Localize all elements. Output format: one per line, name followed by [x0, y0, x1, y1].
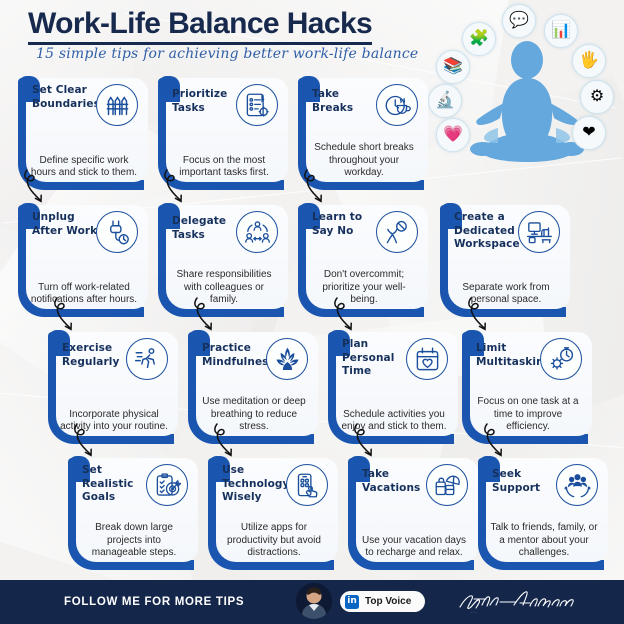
card-title: Delegate Tasks — [172, 215, 244, 242]
card-body: Share responsibilities with colleagues o… — [170, 269, 278, 307]
gear-stopwatch-icon — [540, 338, 582, 380]
puzzle-pieces-icon: 🧩 — [462, 22, 496, 56]
card-title: Limit Multitasking — [476, 342, 548, 369]
tip-card-12[interactable]: Set Realistic Goals Break down large pro… — [68, 458, 194, 570]
luggage-umbrella-icon — [426, 464, 468, 506]
clipboard-target-icon — [146, 464, 188, 506]
card-title: Learn to Say No — [312, 211, 384, 238]
checklist-gear-icon — [236, 84, 278, 126]
tip-card-7[interactable]: Create a Dedicated Workspace Separate wo… — [440, 205, 566, 317]
tip-card-15[interactable]: Seek Support Talk to friends, family, or… — [478, 458, 604, 570]
avatar — [296, 583, 332, 619]
card-body: Use meditation or deep breathing to redu… — [200, 396, 308, 434]
tip-card-6[interactable]: Learn to Say No Don't overcommit; priori… — [298, 205, 424, 317]
card-title: Unplug After Work — [32, 211, 104, 238]
smartphone-tap-icon — [286, 464, 328, 506]
card-body: Utilize apps for productivity but avoid … — [220, 522, 328, 560]
tip-card-13[interactable]: Use Technology Wisely Utilize apps for p… — [208, 458, 334, 570]
linkedin-top-voice-badge[interactable]: in Top Voice — [340, 591, 425, 612]
tip-card-4[interactable]: Unplug After Work Turn off work-related … — [18, 205, 144, 317]
card-body: Focus on the most important tasks first. — [170, 155, 278, 180]
card-body: Focus on one task at a time to improve e… — [474, 396, 582, 434]
signature-subtitle: ····· — [470, 611, 477, 615]
chat-bubbles-icon: 💬 — [502, 4, 536, 38]
footer-bar: FOLLOW ME FOR MORE TIPS in Top Voice — [0, 580, 624, 624]
science-flask-icon: 🔬 — [428, 84, 462, 118]
helping-hand-icon: 🖐 — [572, 44, 606, 78]
running-person-icon — [126, 338, 168, 380]
card-title: Set Clear Boundaries — [32, 84, 104, 111]
card-body: Turn off work-related notifications afte… — [30, 282, 138, 307]
unplugged-plug-icon — [96, 211, 138, 253]
card-body: Use your vacation days to recharge and r… — [360, 535, 468, 560]
heart-in-hands-icon: 💗 — [436, 118, 470, 152]
team-delegation-icon — [236, 211, 278, 253]
infographic-canvas: Work-Life Balance Hacks 15 simple tips f… — [0, 0, 624, 624]
fence-icon — [96, 84, 138, 126]
card-body: Schedule activities you enjoy and stick … — [340, 409, 448, 434]
tip-card-3[interactable]: Take Breaks Schedule short breaks throug… — [298, 78, 424, 190]
linkedin-icon: in — [345, 595, 359, 609]
card-body: Schedule short breaks throughout your wo… — [310, 142, 418, 180]
tip-card-10[interactable]: Plan Personal Time Schedule activities y… — [328, 332, 454, 444]
card-body: Define specific work hours and stick to … — [30, 155, 138, 180]
desk-computer-icon — [518, 211, 560, 253]
card-body: Break down large projects into manageabl… — [80, 522, 188, 560]
tip-card-2[interactable]: Prioritize Tasks Focus on the most impor… — [158, 78, 284, 190]
page-subtitle: 15 simple tips for achieving better work… — [36, 46, 418, 62]
tip-card-14[interactable]: Take Vacations Use your vacation days to… — [348, 458, 474, 570]
card-title: Prioritize Tasks — [172, 88, 244, 115]
hearts-icon: ❤ — [572, 116, 606, 150]
badge-label: Top Voice — [365, 596, 411, 607]
card-body: Talk to friends, family, or a mentor abo… — [490, 522, 598, 560]
meditation-lotus-icon — [266, 338, 308, 380]
clock-coffee-icon — [376, 84, 418, 126]
card-title: Practice Mindfulness — [202, 342, 274, 369]
card-title: Exercise Regularly — [62, 342, 134, 369]
page-title: Work-Life Balance Hacks — [28, 8, 372, 45]
no-entry-hands-icon — [376, 211, 418, 253]
meditating-person-illustration: 📚 🔬 💗 🧩 💬 📊 🖐 ⚙ ❤ — [434, 0, 620, 180]
card-title: Take Vacations — [362, 468, 434, 495]
card-body: Separate work from personal space. — [452, 282, 560, 307]
tip-card-9[interactable]: Practice Mindfulness Use meditation or d… — [188, 332, 314, 444]
card-title: Seek Support — [492, 468, 564, 495]
follow-cta-text: FOLLOW ME FOR MORE TIPS — [64, 596, 244, 608]
card-body: Don't overcommit; prioritize your well-b… — [310, 269, 418, 307]
gears-icon: ⚙ — [580, 80, 614, 114]
tip-card-1[interactable]: Set Clear Boundaries Define specific wor… — [18, 78, 144, 190]
calendar-heart-icon — [406, 338, 448, 380]
bar-chart-icon: 📊 — [544, 14, 578, 48]
card-title: Use Technology Wisely — [222, 464, 294, 505]
card-title: Create a Dedicated Workspace — [454, 211, 526, 252]
tip-card-5[interactable]: Delegate Tasks Share responsibilities wi… — [158, 205, 284, 317]
books-icon: 📚 — [436, 50, 470, 84]
card-body: Incorporate physical activity into your … — [60, 409, 168, 434]
tip-card-11[interactable]: Limit Multitasking Focus on one task at … — [462, 332, 588, 444]
support-hands-people-icon — [556, 464, 598, 506]
card-title: Plan Personal Time — [342, 338, 414, 379]
card-title: Set Realistic Goals — [82, 464, 154, 505]
tip-card-8[interactable]: Exercise Regularly Incorporate physical … — [48, 332, 174, 444]
card-title: Take Breaks — [312, 88, 384, 115]
